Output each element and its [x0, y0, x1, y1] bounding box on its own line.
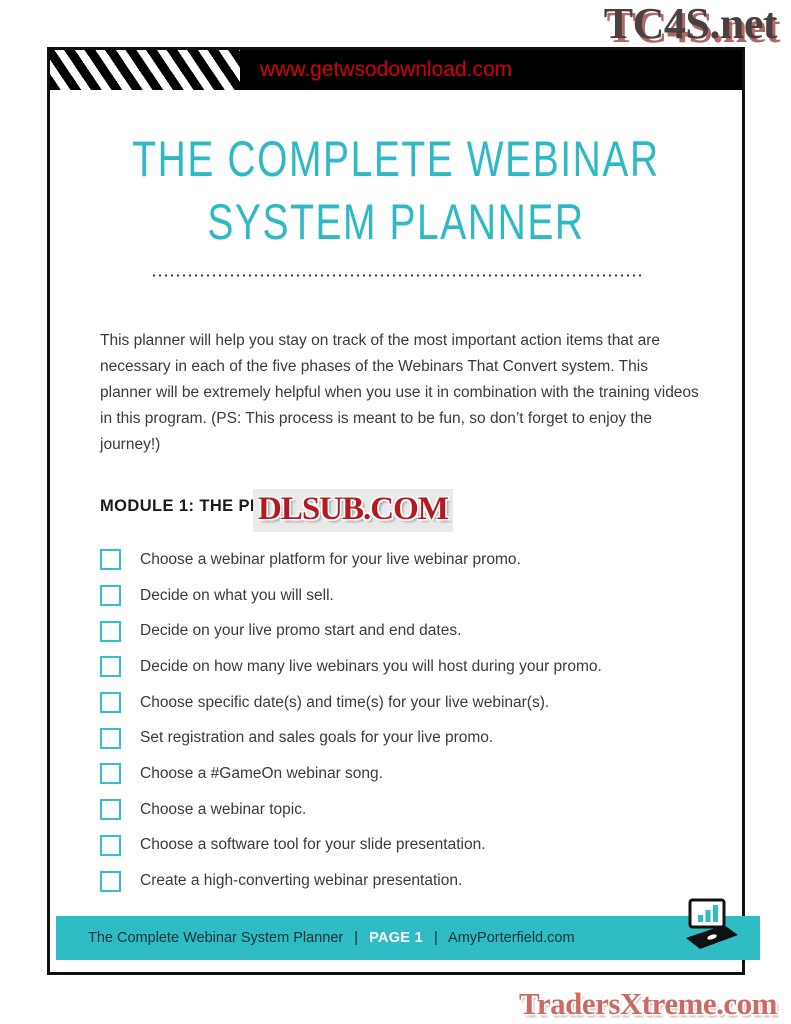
tc4s-watermark: TC4S.net [604, 0, 777, 49]
footer-bar: The Complete Webinar System Planner | PA… [56, 916, 760, 960]
checklist-item[interactable]: Choose a webinar platform for your live … [100, 542, 712, 578]
footer-page-number: PAGE 1 [369, 930, 423, 946]
diagonal-hatch-pattern [50, 50, 240, 90]
footer-site: AmyPorterfield.com [448, 930, 575, 946]
checklist-item-label: Choose specific date(s) and time(s) for … [140, 694, 549, 712]
tradersxtreme-watermark: TradersXtreme.com [519, 986, 777, 1022]
header-bar: www.getwsodownload.com [50, 50, 742, 90]
checklist-item[interactable]: Set registration and sales goals for you… [100, 720, 712, 756]
checkbox-icon[interactable] [100, 585, 121, 606]
title-block: THE COMPLETE WEBINAR SYSTEM PLANNER [50, 128, 742, 277]
checklist-item-label: Choose a #GameOn webinar song. [140, 765, 383, 783]
checklist: Choose a webinar platform for your live … [100, 542, 712, 899]
checkbox-icon[interactable] [100, 728, 121, 749]
checkbox-icon[interactable] [100, 835, 121, 856]
checkbox-icon[interactable] [100, 799, 121, 820]
footer-separator: | [354, 930, 358, 946]
page-title-line-2: SYSTEM PLANNER [126, 191, 666, 254]
checklist-item[interactable]: Choose a #GameOn webinar song. [100, 756, 712, 792]
checkbox-icon[interactable] [100, 656, 121, 677]
dlsub-watermark: DLSUB.COM [253, 489, 453, 532]
checklist-item-label: Choose a webinar topic. [140, 801, 306, 819]
page-title-line-1: THE COMPLETE WEBINAR [126, 128, 666, 191]
footer-text: The Complete Webinar System Planner | PA… [88, 930, 575, 946]
checklist-item-label: Decide on what you will sell. [140, 587, 334, 605]
checklist-item-label: Choose a software tool for your slide pr… [140, 836, 486, 854]
checklist-item[interactable]: Decide on what you will sell. [100, 578, 712, 614]
checklist-item[interactable]: Choose a webinar topic. [100, 792, 712, 828]
checklist-item[interactable]: Create a high-converting webinar present… [100, 863, 712, 899]
checklist-item-label: Decide on your live promo start and end … [140, 622, 461, 640]
laptop-chart-logo [676, 894, 740, 958]
checklist-item-label: Decide on how many live webinars you wil… [140, 658, 602, 676]
checkbox-icon[interactable] [100, 621, 121, 642]
checklist-item[interactable]: Choose specific date(s) and time(s) for … [100, 685, 712, 721]
document-page: www.getwsodownload.com THE COMPLETE WEBI… [47, 47, 745, 975]
footer-doc-name: The Complete Webinar System Planner [88, 930, 343, 946]
header-url-watermark: www.getwsodownload.com [260, 50, 512, 90]
checkbox-icon[interactable] [100, 871, 121, 892]
checklist-item-label: Set registration and sales goals for you… [140, 729, 493, 747]
dotted-divider [151, 274, 641, 277]
intro-paragraph: This planner will help you stay on track… [100, 328, 700, 458]
checklist-item-label: Create a high-converting webinar present… [140, 872, 462, 890]
checklist-item[interactable]: Choose a software tool for your slide pr… [100, 828, 712, 864]
checklist-item[interactable]: Decide on how many live webinars you wil… [100, 649, 712, 685]
checkbox-icon[interactable] [100, 692, 121, 713]
checkbox-icon[interactable] [100, 763, 121, 784]
footer-separator: | [434, 930, 438, 946]
checklist-item-label: Choose a webinar platform for your live … [140, 551, 521, 569]
checkbox-icon[interactable] [100, 549, 121, 570]
checklist-item[interactable]: Decide on your live promo start and end … [100, 613, 712, 649]
